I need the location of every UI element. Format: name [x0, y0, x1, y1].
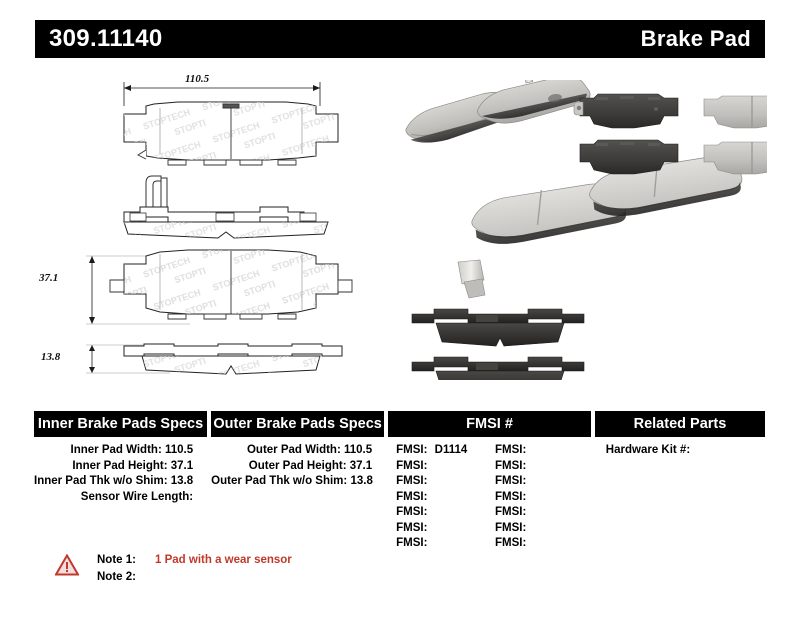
table-body: Inner Pad Width: 110.5 Inner Pad Height:… [34, 437, 765, 552]
outer-specs-column: Outer Pad Width: 110.5 Outer Pad Height:… [211, 443, 386, 552]
fmsi-row: FMSI: [390, 521, 491, 537]
photo-angled-pad-set [402, 80, 745, 248]
fmsi-row: FMSI: [491, 474, 592, 490]
column-header-inner: Inner Brake Pads Specs [34, 411, 207, 437]
fmsi-label: FMSI: [495, 444, 526, 456]
part-number: 309.11140 [49, 25, 163, 53]
fmsi-subcolumn-b: FMSI: FMSI: FMSI: FMSI: [491, 443, 592, 552]
dimension-label-height: 37.1 [39, 272, 58, 284]
fmsi-row: FMSI: [390, 490, 491, 506]
page-title: Brake Pad [641, 26, 751, 52]
notes-section: Note 1: 1 Pad with a wear sensor Note 2: [55, 552, 292, 586]
fmsi-row: FMSI: [390, 505, 491, 521]
note-row: Note 1: 1 Pad with a wear sensor [97, 552, 292, 569]
inner-specs-column: Inner Pad Width: 110.5 Inner Pad Height:… [34, 443, 207, 552]
drawing-front-face-view [110, 250, 352, 319]
spec-value: 13.8 [350, 475, 372, 487]
fmsi-value [427, 491, 431, 503]
fmsi-value [526, 537, 530, 549]
note-label: Note 1: [97, 552, 149, 569]
specs-table: Inner Brake Pads Specs Outer Brake Pads … [34, 411, 765, 552]
column-header-related: Related Parts [595, 411, 765, 437]
table-header-row: Inner Brake Pads Specs Outer Brake Pads … [34, 411, 765, 437]
fmsi-label: FMSI: [495, 491, 526, 503]
header-bar: 309.11140 Brake Pad [35, 20, 765, 58]
spec-sheet-page: 309.11140 Brake Pad STOPTECH STOPTECH [0, 0, 800, 619]
fmsi-label: FMSI: [396, 506, 427, 518]
note-value: 1 Pad with a wear sensor [149, 552, 292, 569]
fmsi-value [526, 475, 530, 487]
spec-label: Outer Pad Width: [247, 444, 341, 456]
fmsi-row: FMSI: [491, 443, 592, 459]
related-parts-row: Hardware Kit #: [596, 443, 765, 459]
note-label: Note 2: [97, 569, 149, 586]
fmsi-label: FMSI: [495, 460, 526, 472]
fmsi-label: FMSI: [495, 506, 526, 518]
spec-label: Inner Pad Height: [72, 460, 167, 472]
column-header-fmsi: FMSI # [388, 411, 591, 437]
fmsi-label: FMSI: [396, 491, 427, 503]
photo-pad-pairs-grid [574, 94, 767, 174]
spec-label: Sensor Wire Length: [81, 491, 193, 503]
drawing-top-face-view [124, 102, 338, 165]
fmsi-subcolumn-a: FMSI: D1114 FMSI: FMSI: FMSI: [390, 443, 491, 552]
fmsi-label: FMSI: [396, 522, 427, 534]
spec-label: Outer Pad Height: [249, 460, 347, 472]
fmsi-row: FMSI: [491, 459, 592, 475]
fmsi-column: FMSI: D1114 FMSI: FMSI: FMSI: [390, 443, 592, 552]
column-header-outer: Outer Brake Pads Specs [211, 411, 384, 437]
fmsi-label: FMSI: [495, 537, 526, 549]
technical-drawings: STOPTECH STOPTECH [40, 64, 390, 394]
fmsi-row: FMSI: [491, 536, 592, 552]
spec-row: Inner Pad Height: 37.1 [34, 459, 207, 475]
fmsi-row: FMSI: [491, 490, 592, 506]
spec-row: Inner Pad Width: 110.5 [34, 443, 207, 459]
fmsi-value [526, 506, 530, 518]
fmsi-row: FMSI: [390, 459, 491, 475]
wear-sensor-clip [146, 176, 167, 211]
fmsi-value [526, 491, 530, 503]
spec-row: Outer Pad Width: 110.5 [211, 443, 386, 459]
dimension-label-width: 110.5 [185, 73, 210, 85]
spec-row: Outer Pad Thk w/o Shim: 13.8 [211, 474, 386, 490]
fmsi-row: FMSI: [390, 474, 491, 490]
fmsi-row: FMSI: D1114 [390, 443, 491, 459]
spec-row: Inner Pad Thk w/o Shim: 13.8 [34, 474, 207, 490]
fmsi-label: FMSI: [396, 460, 427, 472]
fmsi-value [427, 522, 431, 534]
spec-value: 110.5 [165, 444, 193, 456]
fmsi-label: FMSI: [495, 475, 526, 487]
note-value [149, 569, 155, 586]
spec-row: Sensor Wire Length: [34, 490, 207, 506]
sensor-clip-icon [574, 102, 583, 115]
spec-label: Outer Pad Thk w/o Shim: [211, 475, 347, 487]
product-photos [392, 80, 767, 380]
fmsi-row: FMSI: [491, 521, 592, 537]
fmsi-value [427, 506, 431, 518]
fmsi-label: FMSI: [495, 522, 526, 534]
spec-value: 110.5 [344, 444, 372, 456]
fmsi-row: FMSI: [390, 536, 491, 552]
dimension-label-thickness: 13.8 [41, 351, 60, 363]
fmsi-label: FMSI: [396, 475, 427, 487]
fmsi-value [427, 537, 431, 549]
fmsi-row: FMSI: [491, 505, 592, 521]
fmsi-value [526, 522, 530, 534]
note-row: Note 2: [97, 569, 292, 586]
photos-svg [392, 80, 767, 380]
spec-label: Inner Pad Thk w/o Shim: [34, 475, 168, 487]
drawing-thickness-view [124, 344, 342, 374]
photo-edge-on-pair [412, 260, 584, 380]
warning-triangle-icon [55, 554, 79, 576]
spec-row: Outer Pad Height: 37.1 [211, 459, 386, 475]
spec-value: 13.8 [171, 475, 193, 487]
drawing-edge-view-sensor [124, 176, 328, 238]
spec-label: Inner Pad Width: [71, 444, 162, 456]
sensor-tab-icon [458, 260, 485, 298]
fmsi-value: D1114 [431, 444, 468, 456]
fmsi-value [526, 460, 530, 472]
drawing-svg: STOPTECH STOPTECH [40, 64, 390, 394]
fmsi-value [427, 460, 431, 472]
fmsi-label: FMSI: [396, 537, 427, 549]
notes-list: Note 1: 1 Pad with a wear sensor Note 2: [97, 552, 292, 586]
spec-value: 37.1 [350, 460, 372, 472]
related-parts-column: Hardware Kit #: [596, 443, 765, 552]
spec-value: 37.1 [171, 460, 193, 472]
fmsi-label: FMSI: [396, 444, 427, 456]
fmsi-value [427, 475, 431, 487]
fmsi-value [526, 444, 530, 456]
related-parts-label: Hardware Kit #: [606, 444, 690, 456]
